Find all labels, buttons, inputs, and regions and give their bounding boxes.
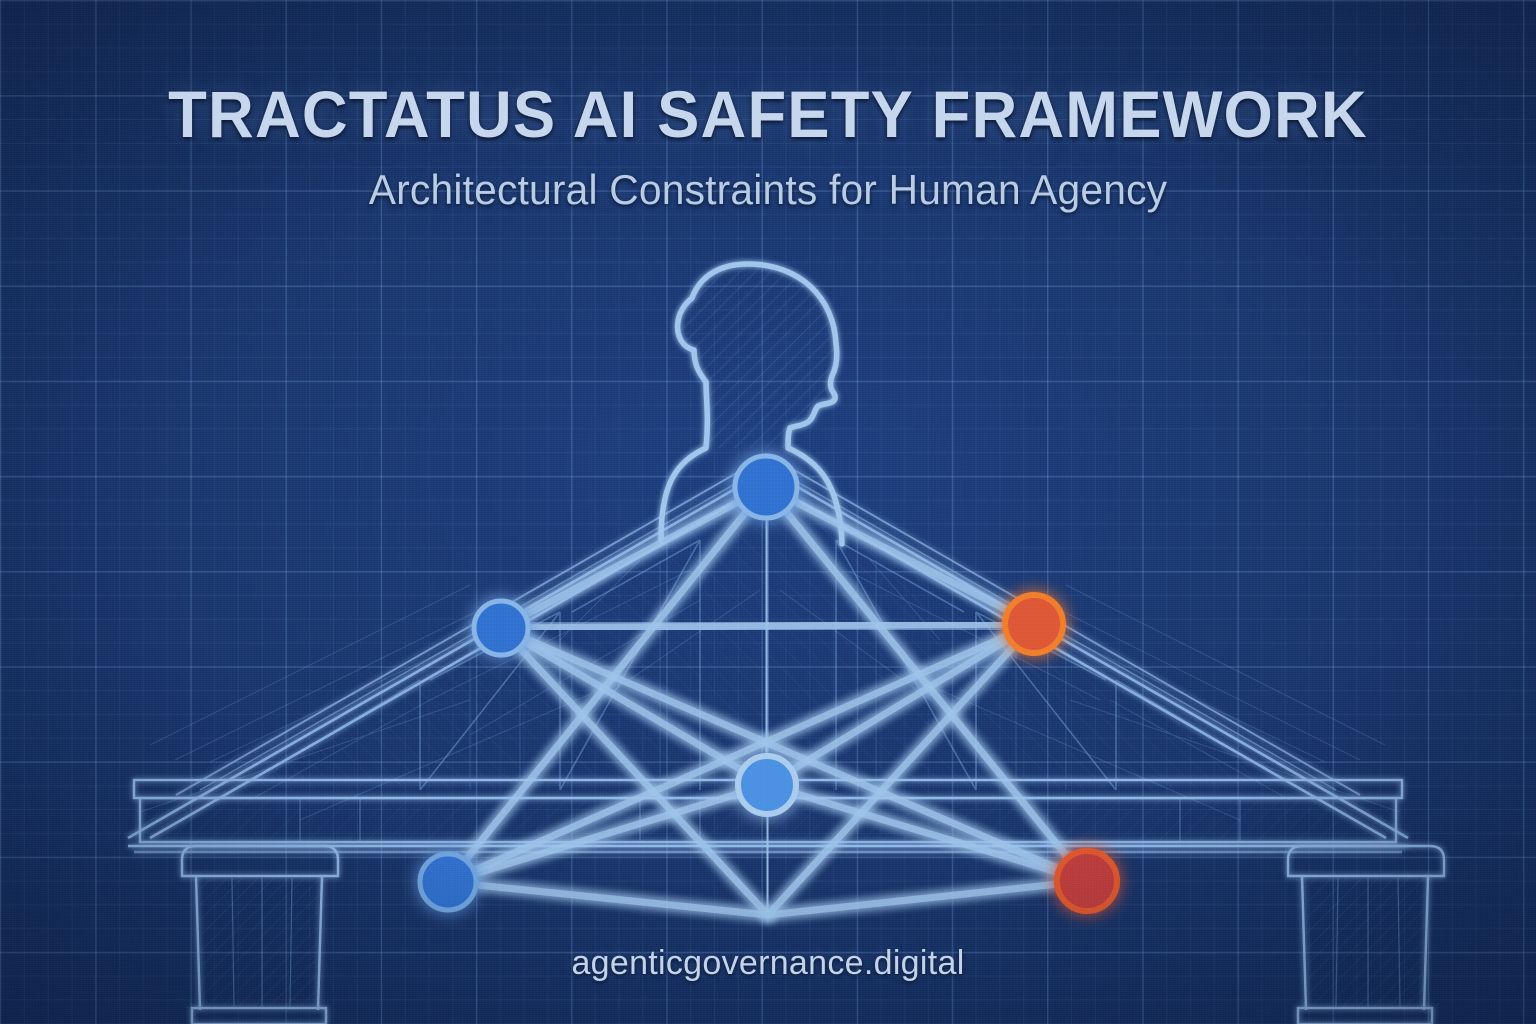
footer-url[interactable]: agenticgovernance.digital [0,944,1536,983]
page-title: TRACTATUS AI SAFETY FRAMEWORK [31,0,1506,152]
page-subtitle: Architectural Constraints for Human Agen… [23,152,1513,214]
network-node-top[interactable] [735,456,797,518]
network-edge [501,487,766,628]
node-disc [738,756,796,814]
network-edge [766,487,1087,881]
title-block: TRACTATUS AI SAFETY FRAMEWORK Architectu… [0,0,1536,214]
network-node-right_mid[interactable] [1005,595,1063,653]
network-edge [766,487,1034,624]
network-node-bottom_right[interactable] [1057,851,1117,911]
network-edge [448,487,766,882]
network-node-center[interactable] [738,756,796,814]
node-disc [420,854,476,910]
node-disc [735,456,797,518]
network-node-left_mid[interactable] [474,601,528,655]
network-edge [448,882,768,915]
node-disc [474,601,528,655]
poster-canvas: TRACTATUS AI SAFETY FRAMEWORK Architectu… [0,0,1536,1024]
network-edge [501,624,1034,628]
network-node-bottom_left[interactable] [420,854,476,910]
network-edges [448,487,1087,915]
node-disc [1005,595,1063,653]
node-disc [1057,851,1117,911]
network-edge [768,881,1087,915]
